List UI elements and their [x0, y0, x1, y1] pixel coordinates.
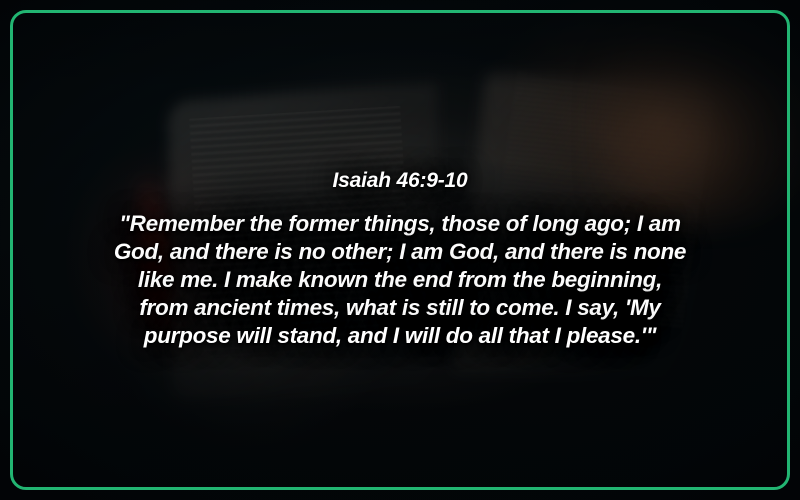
verse-line: "Remember the former things, those of lo… — [28, 210, 772, 238]
verse-line: purpose will stand, and I will do all th… — [28, 322, 772, 350]
verse-text: "Remember the former things, those of lo… — [28, 210, 772, 350]
verse-content: Isaiah 46:9-10 "Remember the former thin… — [0, 168, 800, 350]
verse-reference: Isaiah 46:9-10 — [28, 168, 772, 194]
verse-line: from ancient times, what is still to com… — [28, 294, 772, 322]
verse-line: like me. I make known the end from the b… — [28, 266, 772, 294]
verse-line: God, and there is no other; I am God, an… — [28, 238, 772, 266]
verse-card: Isaiah 46:9-10 "Remember the former thin… — [0, 0, 800, 500]
